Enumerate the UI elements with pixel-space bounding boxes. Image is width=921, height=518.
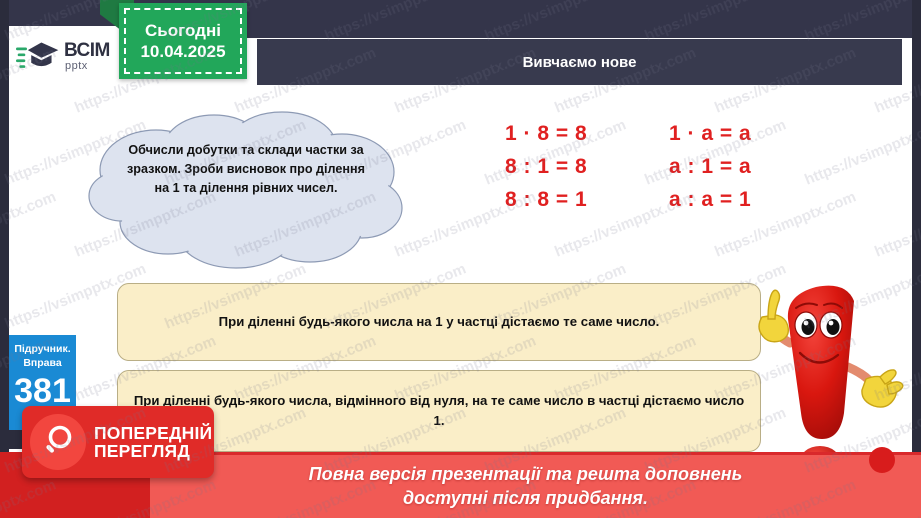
page-title: Вивчаємо нове	[523, 54, 637, 71]
slide-canvas: ВСІМ pptx Сьогодні 10.04.2025 Вивчаємо н…	[0, 0, 921, 518]
equation-line: a : 1 = a	[669, 155, 805, 179]
exercise-label-line1: Підручник.	[9, 342, 76, 356]
date-badge-label: Сьогодні	[145, 20, 221, 41]
today-date-badge: Сьогодні 10.04.2025	[119, 3, 247, 79]
graduation-cap-icon	[16, 39, 60, 73]
date-badge-value: 10.04.2025	[140, 41, 225, 62]
magnifier-icon	[30, 414, 86, 470]
banner-line2: доступні після придбання.	[309, 487, 743, 510]
right-chrome-strip	[912, 0, 921, 518]
logo-title: ВСІМ	[64, 41, 110, 60]
logo-subtitle: pptx	[65, 61, 110, 72]
rule-text: При діленні будь-якого числа, відмінного…	[118, 391, 760, 431]
pointing-hand-icon	[759, 290, 788, 342]
equation-column-numeric: 1 · 8 = 8 8 : 1 = 8 8 : 8 = 1	[505, 122, 641, 232]
purchase-notice-text: Повна версія презентації та решта доповн…	[309, 463, 743, 509]
preview-badge-line1: ПОПЕРЕДНІЙ	[94, 424, 212, 442]
task-cloud-text: Обчисли добутки та склади частки за зраз…	[120, 141, 372, 198]
rule-box-division-by-one: При діленні будь-якого числа на 1 у част…	[117, 283, 761, 361]
equation-line: 1 · a = a	[669, 122, 805, 146]
exercise-label-line2: Вправа	[9, 356, 76, 370]
brand-logo[interactable]: ВСІМ pptx	[9, 26, 121, 86]
banner-line1: Повна версія презентації та решта доповн…	[309, 463, 743, 486]
banner-dot-decoration	[869, 447, 895, 473]
equation-line: 1 · 8 = 8	[505, 122, 641, 146]
equation-line: a : a = 1	[669, 188, 805, 212]
task-cloud-bubble: Обчисли добутки та склади частки за зраз…	[86, 104, 406, 270]
equation-line: 8 : 8 = 1	[505, 188, 641, 212]
left-chrome-strip	[0, 0, 9, 518]
preview-badge-line2: ПЕРЕГЛЯД	[94, 442, 212, 460]
preview-watermark-badge: ПОПЕРЕДНІЙ ПЕРЕГЛЯД	[22, 406, 214, 478]
equation-line: 8 : 1 = 8	[505, 155, 641, 179]
equation-column-algebraic: 1 · a = a a : 1 = a a : a = 1	[669, 122, 805, 232]
equations-panel: 1 · 8 = 8 8 : 1 = 8 8 : 8 = 1 1 · a = a …	[505, 122, 805, 232]
exercise-number: 381	[9, 374, 76, 408]
rule-text: При діленні будь-якого числа на 1 у част…	[205, 312, 674, 332]
slide-title-bar: Вивчаємо нове	[257, 39, 902, 85]
